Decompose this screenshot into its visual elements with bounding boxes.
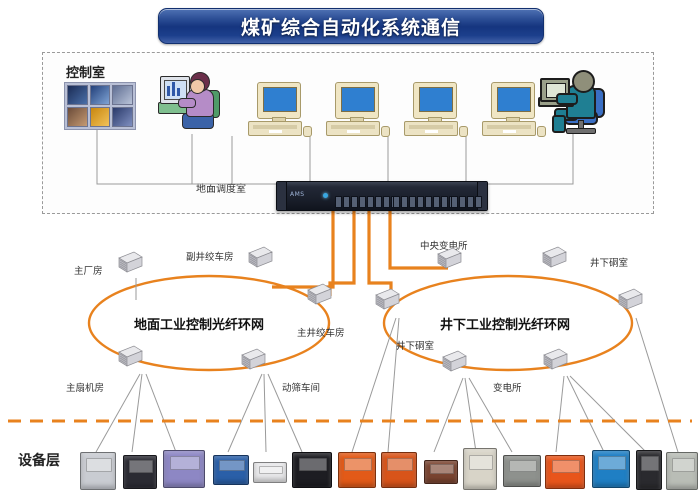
rack-brand-logo: AMS [290, 191, 305, 198]
device-faceplate [598, 456, 625, 470]
ring-node-switch[interactable] [613, 288, 643, 312]
plc-rack[interactable] [80, 452, 116, 490]
node-label-substation: 变电所 [493, 380, 522, 394]
node-label-main-hoist-room: 主井绞车房 [297, 325, 345, 339]
operator-workstation-avatar [160, 72, 222, 134]
workstation-pc-3[interactable] [404, 82, 466, 136]
device-layer-label: 设备层 [18, 450, 60, 470]
control-terminal[interactable] [463, 448, 497, 490]
status-led-1 [323, 193, 328, 198]
workstation-pc-4[interactable] [482, 82, 544, 136]
explosion-proof-junction[interactable] [666, 452, 698, 490]
ring-node-switch[interactable] [243, 246, 273, 270]
device-faceplate [219, 460, 245, 472]
ring-node-switch[interactable] [113, 251, 143, 275]
ring-node-switch[interactable] [236, 348, 266, 372]
core-rack-switch[interactable]: AMS [276, 181, 488, 211]
ring-node-switch[interactable] [432, 247, 462, 271]
explosion-proof-box-orange[interactable] [338, 452, 376, 488]
device-faceplate [672, 458, 695, 472]
node-label-main-plant: 主厂房 [74, 263, 103, 277]
camera-white[interactable] [253, 462, 287, 483]
ring-node-switch[interactable] [370, 288, 400, 312]
ring-node-switch[interactable] [302, 283, 332, 307]
device-faceplate [299, 458, 328, 472]
junction-box-gray[interactable] [503, 455, 541, 487]
rack-ear-left [277, 182, 287, 210]
node-label-main-fan-room: 主扇机房 [66, 380, 104, 394]
workstation-pc-1[interactable] [248, 82, 310, 136]
node-label-screening-plant: 动筛车间 [282, 380, 320, 394]
blue-control-panel[interactable] [592, 450, 630, 488]
ring-node-switch[interactable] [437, 350, 467, 374]
device-faceplate [86, 458, 112, 472]
workstation-pc-2[interactable] [326, 82, 388, 136]
port-block-3[interactable] [451, 196, 482, 206]
plc-module-purple[interactable] [163, 450, 205, 488]
node-label-underground-chamber-1: 井下硐室 [590, 255, 628, 269]
video-wall [64, 82, 136, 130]
device-faceplate [170, 456, 200, 470]
mine-telephone[interactable] [636, 450, 662, 490]
device-faceplate [469, 455, 493, 471]
device-faceplate [387, 458, 413, 472]
underground-ring-title: 井下工业控制光纤环网 [440, 314, 570, 333]
device-faceplate [430, 464, 454, 473]
device-faceplate [641, 456, 660, 471]
blue-instrument-box[interactable] [213, 455, 249, 485]
port-block-2[interactable] [393, 196, 456, 206]
ring-node-switch[interactable] [538, 348, 568, 372]
explosion-proof-box-orange-3[interactable] [545, 455, 585, 489]
surface-ring-title: 地面工业控制光纤环网 [134, 314, 264, 333]
ring-node-switch[interactable] [113, 345, 143, 369]
camera-brown[interactable] [424, 460, 458, 484]
io-rack-black[interactable] [292, 452, 332, 488]
port-block-1[interactable] [335, 196, 398, 206]
node-label-underground-chamber-2: 井下硐室 [396, 338, 434, 352]
explosion-proof-box-orange-2[interactable] [381, 452, 417, 488]
device-faceplate [509, 460, 536, 472]
device-faceplate [552, 460, 581, 473]
node-label-aux-hoist-room: 副井绞车房 [186, 249, 234, 263]
device-faceplate [259, 466, 283, 474]
engineer-laptop-avatar [538, 70, 610, 140]
industrial-telephone[interactable] [123, 455, 157, 489]
device-faceplate [344, 458, 371, 472]
device-faceplate [129, 460, 153, 473]
ring-node-switch[interactable] [537, 246, 567, 270]
